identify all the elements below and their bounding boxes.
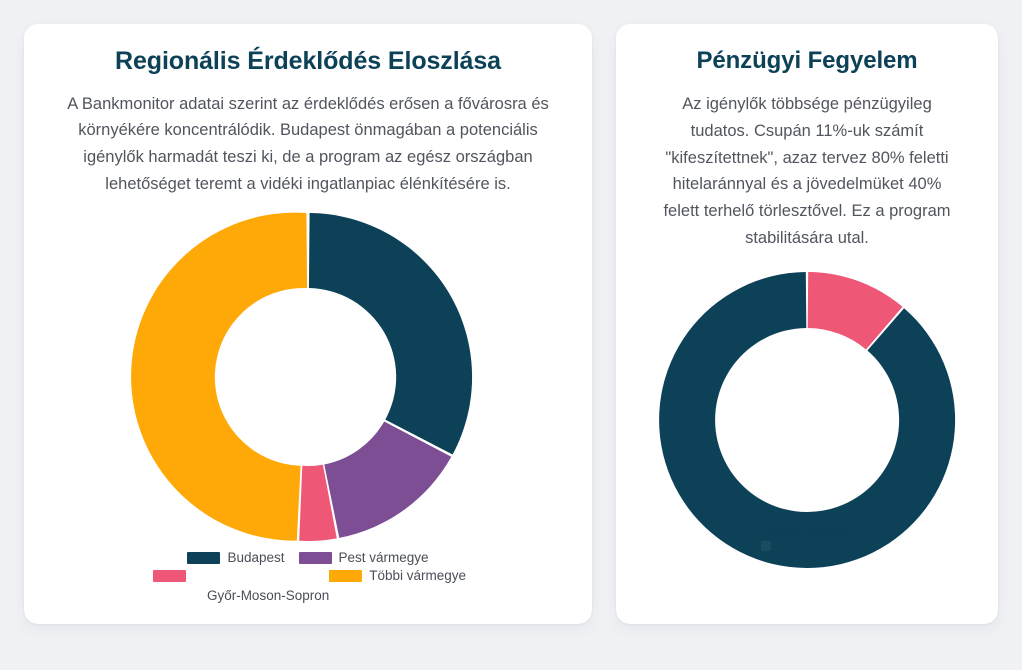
financial-discipline-title: Pénzügyi Fegyelem xyxy=(696,46,917,75)
regional-distribution-card: Regionális Érdeklődés Eloszlása A Bankmo… xyxy=(24,24,592,624)
regional-donut-chart xyxy=(142,211,474,543)
donut-slice-tobbi-igenylo[interactable] xyxy=(659,272,955,568)
regional-donut-svg[interactable] xyxy=(142,211,474,543)
regional-chart-legend: Budapest Pest vármegye Győr-Moson-Sopron… xyxy=(93,551,523,582)
donut-slice-tobbi-varmegye[interactable] xyxy=(131,213,307,541)
legend-swatch-icon-gyor-moson-sopron xyxy=(153,570,186,582)
legend-swatch-icon-pest-varmegye xyxy=(299,552,332,564)
legend-label-gyor-moson-sopron: Győr-Moson-Sopron xyxy=(207,589,329,603)
legend-swatch-icon-budapest xyxy=(187,552,220,564)
legend-swatch-icon-tobbi-varmegye xyxy=(329,570,362,582)
legend-label-pest-varmegye: Pest vármegye xyxy=(339,551,429,565)
financial-chart-area: Többi igénylő Többi igénylő xyxy=(634,252,980,610)
legend-item-tobbi-varmegye[interactable]: Többi vármegye xyxy=(329,569,466,583)
financial-discipline-card: Pénzügyi Fegyelem Az igénylők többsége p… xyxy=(616,24,998,624)
legend-item-budapest[interactable]: Budapest xyxy=(187,551,284,565)
regional-description: A Bankmonitor adatai szerint az érdeklőd… xyxy=(54,91,562,198)
legend-item-pest-varmegye[interactable]: Pest vármegye xyxy=(299,551,429,565)
dashboard-page: Regionális Érdeklődés Eloszlása A Bankmo… xyxy=(0,0,1022,670)
financial-donut-svg[interactable] xyxy=(657,270,957,570)
legend-item-gyor-moson-sopron[interactable]: Győr-Moson-Sopron xyxy=(153,569,315,583)
donut-slice-budapest[interactable] xyxy=(309,213,472,455)
legend-label-tobbi-varmegye: Többi vármegye xyxy=(369,569,466,583)
financial-discipline-description: Az igénylők többsége pénzügyileg tudatos… xyxy=(654,91,960,251)
legend-label-budapest: Budapest xyxy=(227,551,284,565)
regional-chart-area: Budapest Pest vármegye Győr-Moson-Sopron… xyxy=(42,197,574,610)
financial-donut-chart xyxy=(657,270,957,570)
page-title: Regionális Érdeklődés Eloszlása xyxy=(115,46,501,77)
